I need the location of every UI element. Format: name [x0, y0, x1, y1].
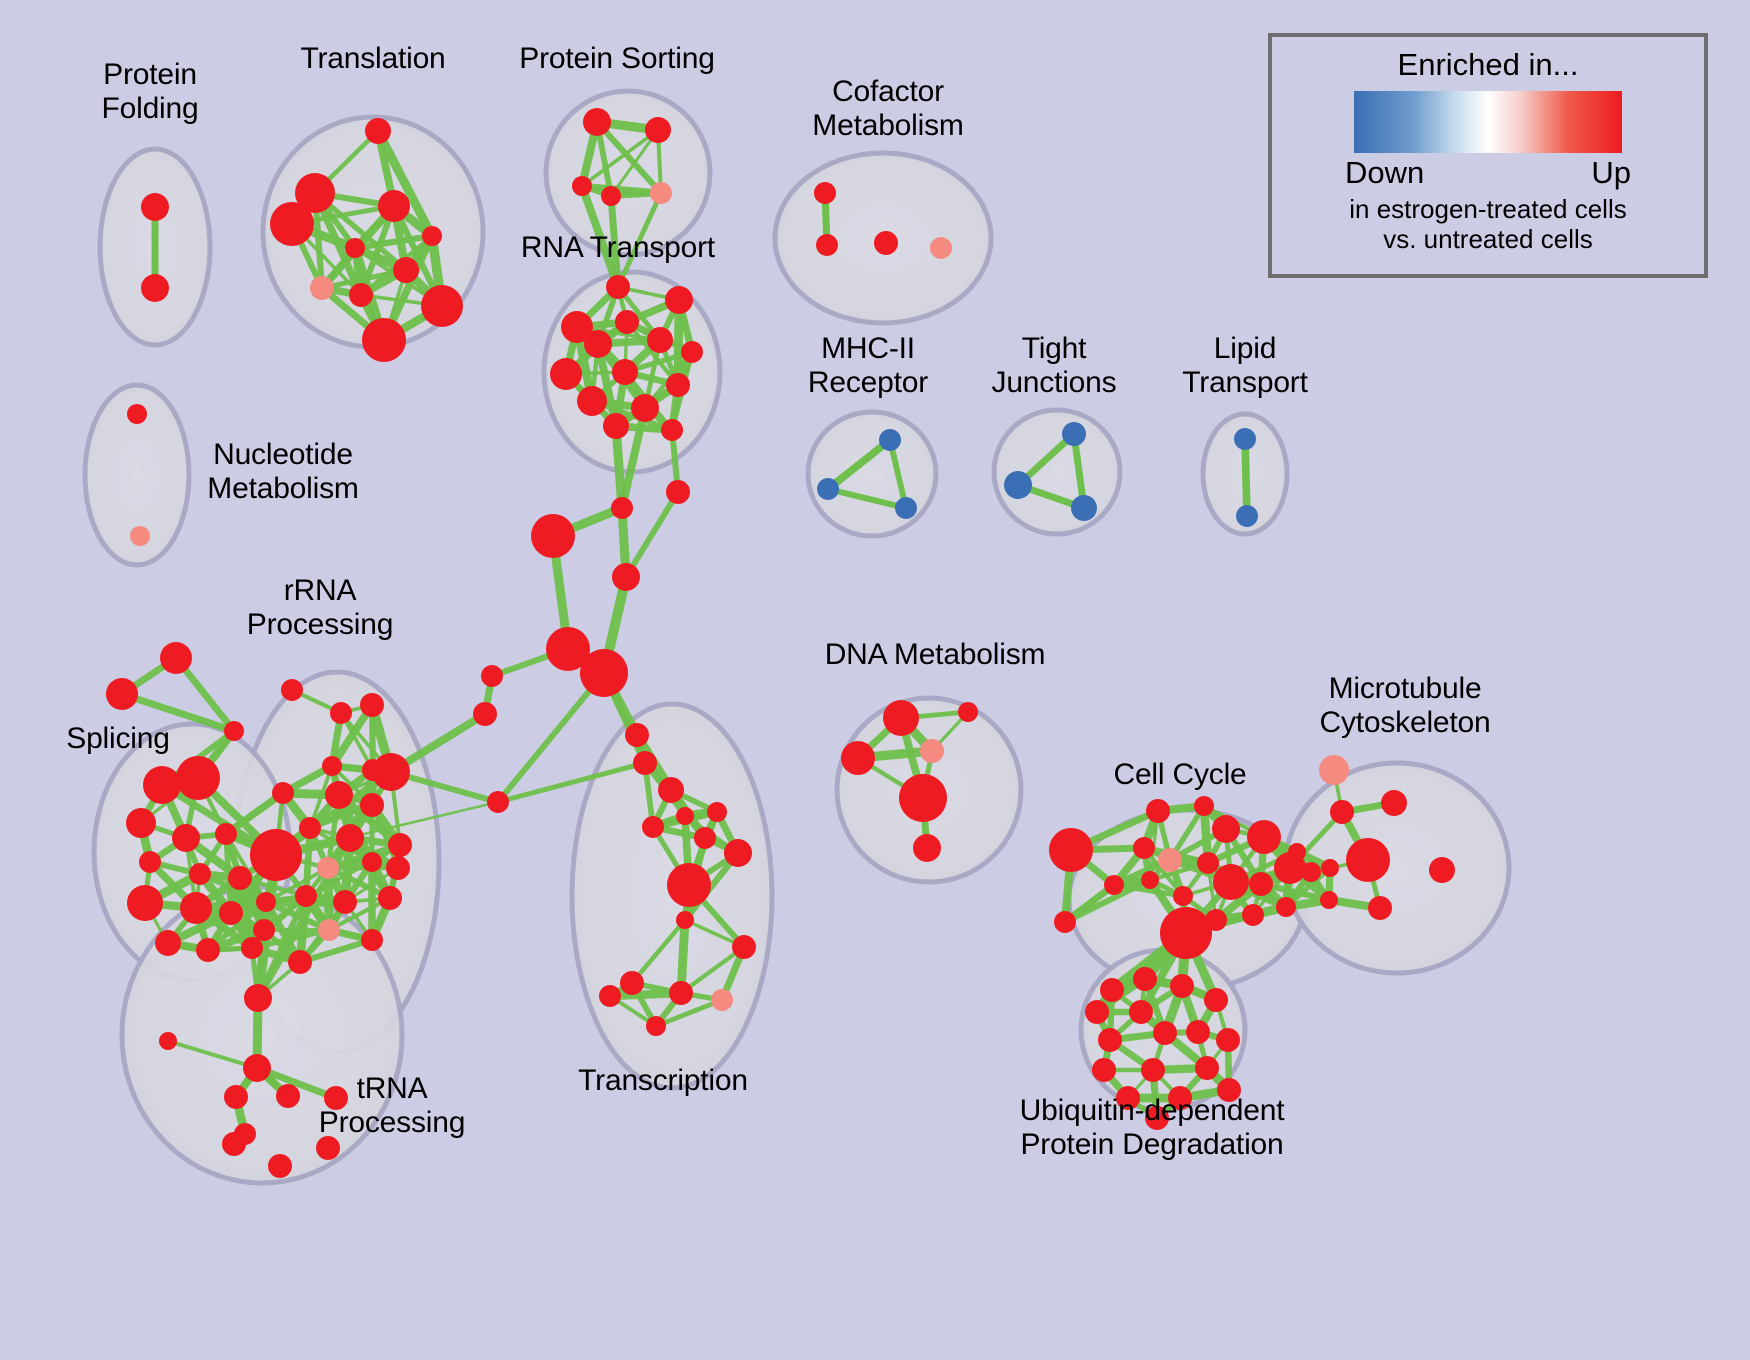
network-node[interactable]: [580, 649, 628, 697]
network-node[interactable]: [1234, 428, 1256, 450]
network-node[interactable]: [1301, 862, 1321, 882]
network-node[interactable]: [1197, 852, 1219, 874]
network-node[interactable]: [666, 373, 690, 397]
network-node[interactable]: [316, 1136, 340, 1160]
network-node[interactable]: [481, 665, 503, 687]
network-node[interactable]: [143, 766, 181, 804]
network-node[interactable]: [1129, 1000, 1153, 1024]
network-node[interactable]: [681, 341, 703, 363]
cluster-blob-mhc-ii-receptor: [808, 412, 936, 536]
network-node[interactable]: [612, 359, 638, 385]
network-node[interactable]: [1217, 1078, 1241, 1102]
network-node[interactable]: [930, 237, 952, 259]
network-node[interactable]: [487, 791, 509, 813]
network-node[interactable]: [584, 330, 612, 358]
network-node[interactable]: [155, 930, 181, 956]
network-node[interactable]: [1247, 820, 1281, 854]
network-node[interactable]: [1062, 422, 1086, 446]
network-node[interactable]: [615, 310, 639, 334]
network-node[interactable]: [895, 497, 917, 519]
network-node[interactable]: [322, 756, 342, 776]
network-node[interactable]: [256, 892, 276, 912]
network-node[interactable]: [1054, 911, 1076, 933]
network-node[interactable]: [1092, 1058, 1116, 1082]
enrichment-map-figure: Protein FoldingTranslationNucleotide Met…: [0, 0, 1750, 1360]
network-node[interactable]: [127, 404, 147, 424]
network-node[interactable]: [1346, 838, 1390, 882]
network-node[interactable]: [176, 756, 220, 800]
network-node[interactable]: [224, 721, 244, 741]
network-node[interactable]: [473, 702, 497, 726]
network-node[interactable]: [645, 117, 671, 143]
network-node[interactable]: [1133, 967, 1157, 991]
network-node[interactable]: [620, 971, 644, 995]
network-node[interactable]: [228, 866, 252, 890]
network-edge: [1245, 439, 1247, 516]
network-node[interactable]: [816, 234, 838, 256]
network-node[interactable]: [841, 741, 875, 775]
network-node[interactable]: [724, 839, 752, 867]
network-node[interactable]: [378, 190, 410, 222]
network-node[interactable]: [958, 702, 978, 722]
network-node[interactable]: [913, 834, 941, 862]
legend-high-label: Up: [1591, 155, 1631, 191]
network-edge: [626, 492, 678, 577]
network-node[interactable]: [160, 642, 192, 674]
network-node[interactable]: [676, 807, 694, 825]
network-node[interactable]: [1085, 1000, 1109, 1024]
network-node[interactable]: [531, 514, 575, 558]
network-node[interactable]: [920, 739, 944, 763]
legend-caption-line2: vs. untreated cells: [1349, 225, 1626, 255]
network-node[interactable]: [325, 781, 353, 809]
network-node[interactable]: [360, 693, 384, 717]
network-node[interactable]: [1236, 505, 1258, 527]
network-node[interactable]: [601, 186, 621, 206]
network-node[interactable]: [388, 833, 412, 857]
network-node[interactable]: [234, 1123, 256, 1145]
network-node[interactable]: [1004, 471, 1032, 499]
network-node[interactable]: [646, 1016, 666, 1036]
network-node[interactable]: [732, 935, 756, 959]
network-node[interactable]: [817, 478, 839, 500]
network-node[interactable]: [665, 286, 693, 314]
network-node[interactable]: [1195, 1056, 1219, 1080]
network-node[interactable]: [318, 919, 340, 941]
network-node[interactable]: [106, 678, 138, 710]
network-node[interactable]: [336, 824, 364, 852]
network-node[interactable]: [1158, 848, 1182, 872]
network-node[interactable]: [219, 901, 243, 925]
network-node[interactable]: [694, 827, 716, 849]
network-node[interactable]: [550, 358, 582, 390]
network-edge: [498, 673, 604, 802]
network-node[interactable]: [349, 283, 373, 307]
network-node[interactable]: [310, 276, 334, 300]
network-node[interactable]: [1153, 1021, 1177, 1045]
network-node[interactable]: [1212, 815, 1240, 843]
network-node[interactable]: [333, 890, 357, 914]
network-node[interactable]: [1133, 837, 1155, 859]
network-node[interactable]: [883, 700, 919, 736]
network-node[interactable]: [1429, 857, 1455, 883]
network-node[interactable]: [711, 989, 733, 1011]
network-node[interactable]: [1160, 907, 1212, 959]
network-node[interactable]: [189, 863, 211, 885]
network-node[interactable]: [270, 202, 314, 246]
network-node[interactable]: [126, 808, 156, 838]
network-node[interactable]: [253, 919, 275, 941]
network-node[interactable]: [130, 526, 150, 546]
network-node[interactable]: [1194, 796, 1214, 816]
network-node[interactable]: [241, 937, 263, 959]
network-node[interactable]: [647, 327, 673, 353]
network-node[interactable]: [345, 238, 365, 258]
network-node[interactable]: [577, 386, 607, 416]
network-node[interactable]: [1168, 1086, 1192, 1110]
network-node[interactable]: [250, 829, 302, 881]
network-node[interactable]: [650, 182, 672, 204]
network-node[interactable]: [244, 984, 272, 1012]
network-node[interactable]: [625, 723, 649, 747]
network-node[interactable]: [879, 429, 901, 451]
network-node[interactable]: [707, 802, 727, 822]
network-node[interactable]: [1186, 1020, 1210, 1044]
network-node[interactable]: [421, 285, 463, 327]
network-node[interactable]: [612, 563, 640, 591]
network-node[interactable]: [243, 1054, 271, 1082]
network-node[interactable]: [1170, 974, 1194, 998]
network-node[interactable]: [372, 753, 410, 791]
network-node[interactable]: [324, 1086, 348, 1110]
network-node[interactable]: [669, 981, 693, 1005]
network-node[interactable]: [1213, 864, 1249, 900]
network-node[interactable]: [1368, 896, 1392, 920]
network-node[interactable]: [1098, 1028, 1122, 1052]
network-node[interactable]: [1141, 871, 1159, 889]
network-node[interactable]: [299, 817, 321, 839]
network-node[interactable]: [276, 1084, 300, 1108]
network-node[interactable]: [661, 419, 683, 441]
network-node[interactable]: [1242, 904, 1264, 926]
network-node[interactable]: [1330, 800, 1354, 824]
network-node[interactable]: [196, 938, 220, 962]
network-node[interactable]: [361, 929, 383, 951]
network-node[interactable]: [583, 108, 611, 136]
network-node[interactable]: [1321, 859, 1339, 877]
network-node[interactable]: [1146, 799, 1170, 823]
network-node[interactable]: [378, 886, 402, 910]
network-node[interactable]: [611, 497, 633, 519]
network-node[interactable]: [633, 751, 657, 775]
network-node[interactable]: [1116, 1086, 1140, 1110]
network-node[interactable]: [365, 118, 391, 144]
network-node[interactable]: [360, 793, 384, 817]
network-node[interactable]: [272, 782, 294, 804]
network-node[interactable]: [362, 852, 382, 872]
network-node[interactable]: [288, 950, 312, 974]
network-node[interactable]: [658, 777, 684, 803]
network-node[interactable]: [1381, 790, 1407, 816]
network-node[interactable]: [422, 226, 442, 246]
network-node[interactable]: [386, 856, 410, 880]
network-node[interactable]: [330, 702, 352, 724]
network-node[interactable]: [1104, 875, 1124, 895]
network-node[interactable]: [599, 985, 621, 1007]
legend-panel: Enriched in... Down Up in estrogen-treat…: [1268, 33, 1708, 278]
network-node[interactable]: [172, 824, 200, 852]
network-node[interactable]: [1141, 1058, 1165, 1082]
network-node[interactable]: [139, 851, 161, 873]
network-node[interactable]: [676, 911, 694, 929]
network-node[interactable]: [1319, 755, 1349, 785]
network-node[interactable]: [127, 885, 163, 921]
network-node[interactable]: [1173, 886, 1193, 906]
network-node[interactable]: [393, 257, 419, 283]
network-node[interactable]: [874, 231, 898, 255]
legend-caption-line1: in estrogen-treated cells: [1349, 195, 1626, 225]
network-node[interactable]: [642, 816, 664, 838]
network-node[interactable]: [317, 857, 339, 879]
network-node[interactable]: [215, 823, 237, 845]
network-node[interactable]: [666, 480, 690, 504]
network-node[interactable]: [141, 274, 169, 302]
network-node[interactable]: [899, 774, 947, 822]
network-node[interactable]: [1288, 843, 1306, 861]
network-node[interactable]: [667, 863, 711, 907]
network-node[interactable]: [572, 176, 592, 196]
network-node[interactable]: [814, 182, 836, 204]
network-node[interactable]: [180, 892, 212, 924]
network-node[interactable]: [268, 1154, 292, 1178]
network-node[interactable]: [1320, 891, 1338, 909]
network-node[interactable]: [224, 1085, 248, 1109]
network-node[interactable]: [281, 679, 303, 701]
network-node[interactable]: [631, 394, 659, 422]
network-node[interactable]: [606, 275, 630, 299]
legend-color-bar: [1354, 91, 1622, 153]
network-node[interactable]: [159, 1032, 177, 1050]
legend-title: Enriched in...: [1398, 47, 1579, 83]
network-node[interactable]: [1276, 897, 1296, 917]
network-node[interactable]: [1100, 978, 1124, 1002]
network-node[interactable]: [1204, 988, 1228, 1012]
network-node[interactable]: [1145, 1106, 1169, 1130]
network-node[interactable]: [1049, 828, 1093, 872]
network-node[interactable]: [603, 413, 629, 439]
network-node[interactable]: [1071, 495, 1097, 521]
network-node[interactable]: [295, 885, 317, 907]
network-node[interactable]: [141, 193, 169, 221]
legend-low-label: Down: [1345, 155, 1424, 191]
network-node[interactable]: [1249, 872, 1273, 896]
network-node[interactable]: [1216, 1028, 1240, 1052]
network-node[interactable]: [362, 318, 406, 362]
